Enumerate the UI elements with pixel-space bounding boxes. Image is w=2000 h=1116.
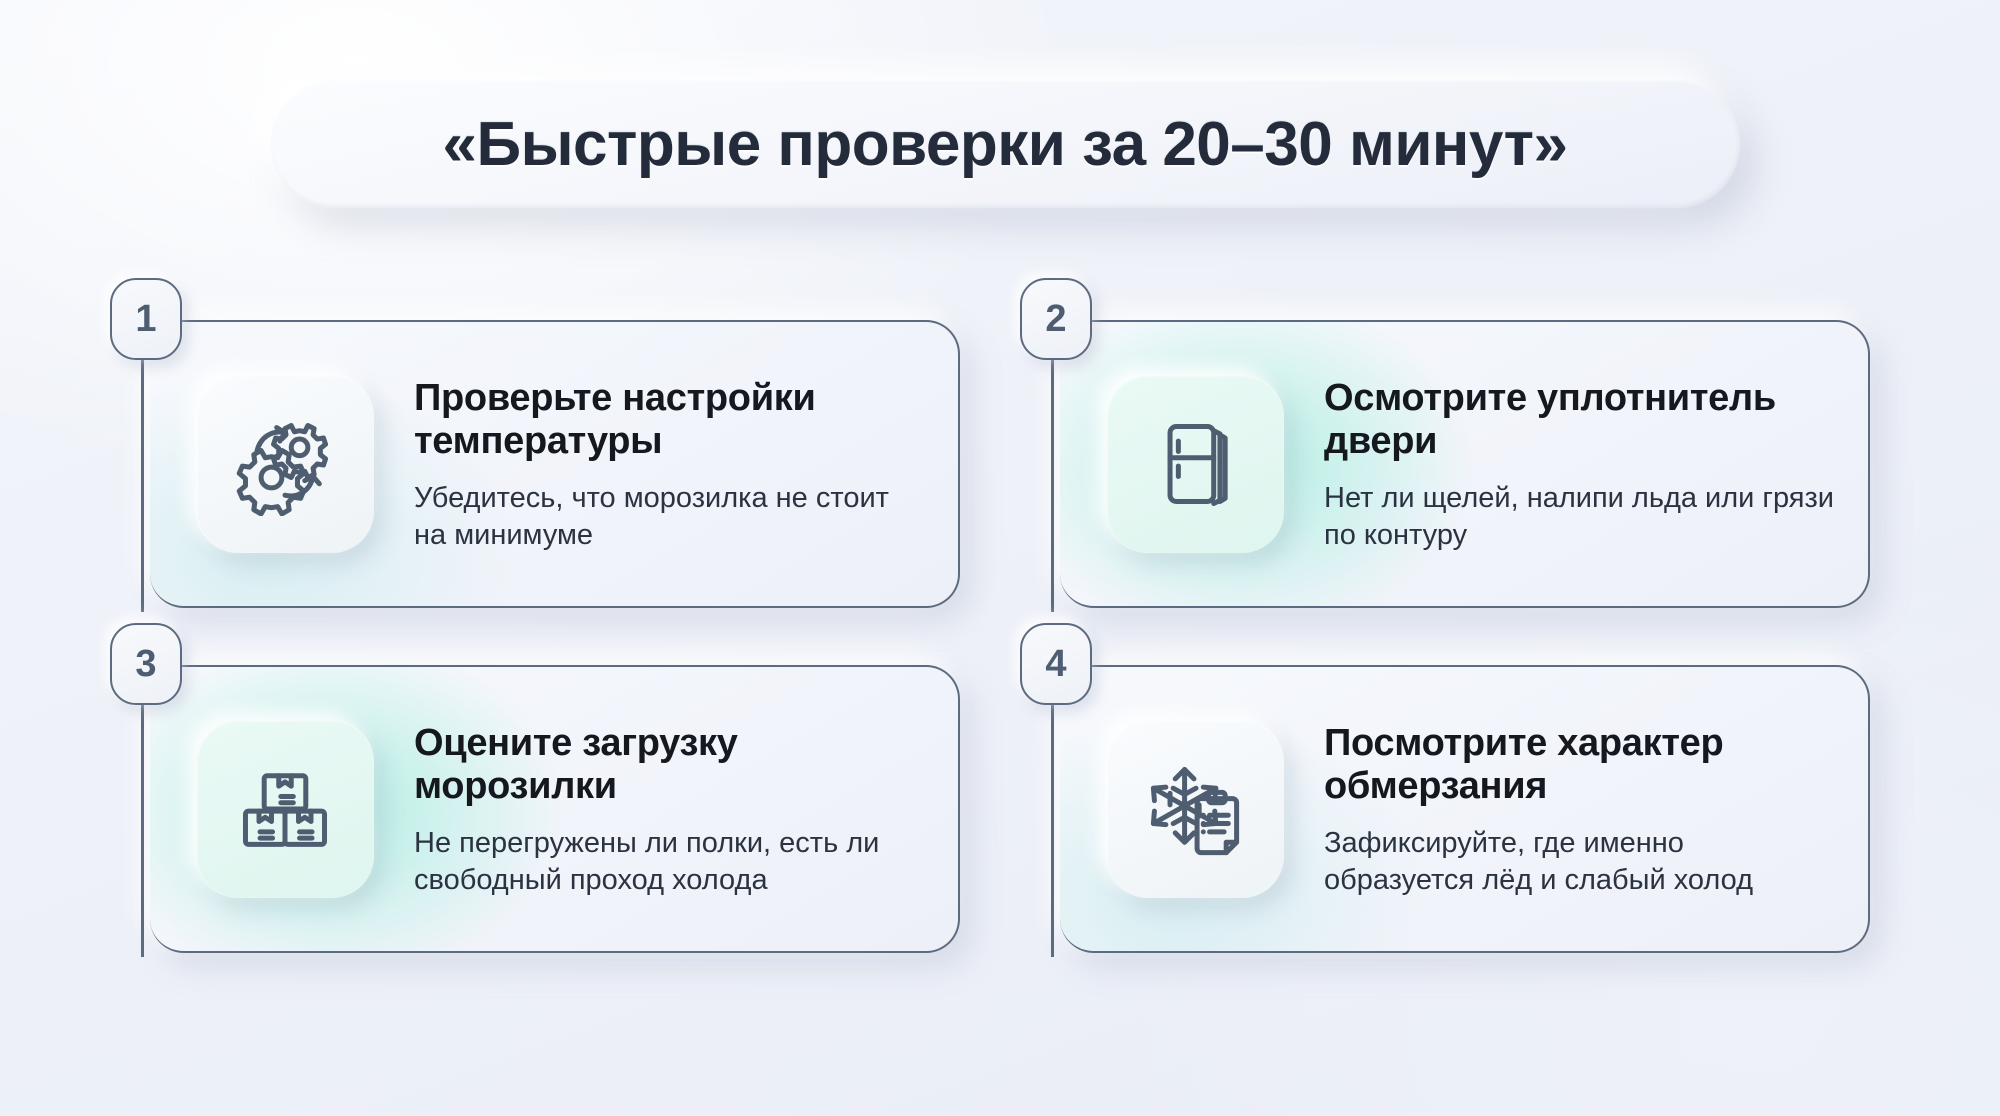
step-card-1-title: Проверьте настройки температуры [414, 377, 924, 464]
infographic-canvas: «Быстрые проверки за 20–30 минут» 1 [0, 0, 2000, 1116]
badge-connector-2 [1051, 350, 1054, 612]
step-number-badge-2: 2 [1020, 278, 1092, 360]
step-card-3[interactable]: Оцените загрузку морозилки Не перегружен… [150, 665, 960, 953]
step-card-4-title: Посмотрите характер обмерзания [1324, 722, 1834, 809]
step-card-2[interactable]: Осмотрите уплотнитель двери Нет ли щелей… [1060, 320, 1870, 608]
step-card-4-text: Посмотрите характер обмерзания Зафиксиру… [1324, 718, 1834, 900]
stacked-boxes-icon [196, 720, 374, 898]
step-number-1: 1 [135, 300, 156, 338]
title-pill: «Быстрые проверки за 20–30 минут» [270, 80, 1740, 208]
step-card-3-title: Оцените загрузку морозилки [414, 722, 924, 809]
step-number-4: 4 [1045, 645, 1066, 683]
page-title: «Быстрые проверки за 20–30 минут» [443, 109, 1568, 180]
step-card-2-text: Осмотрите уплотнитель двери Нет ли щелей… [1324, 373, 1834, 555]
step-card-3-text: Оцените загрузку морозилки Не перегружен… [414, 718, 924, 900]
badge-connector-4 [1051, 695, 1054, 957]
step-card-3-desc: Не перегружены ли полки, есть ли свободн… [414, 825, 924, 900]
step-number-3: 3 [135, 645, 156, 683]
refrigerator-icon [1106, 375, 1284, 553]
badge-connector-1 [141, 350, 144, 612]
step-card-2-title: Осмотрите уплотнитель двери [1324, 377, 1834, 464]
step-card-2-wrapper: 2 Осмотрите уплотнитель двери Нет ли ще [1060, 320, 1870, 610]
step-card-1-text: Проверьте настройки температуры Убедитес… [414, 373, 924, 555]
step-card-2-desc: Нет ли щелей, налипи льда или грязи по к… [1324, 480, 1834, 555]
step-card-4-wrapper: 4 [1060, 665, 1870, 955]
step-number-badge-3: 3 [110, 623, 182, 705]
step-card-4-desc: Зафиксируйте, где именно образуется лёд … [1324, 825, 1834, 900]
step-card-3-wrapper: 3 Оцените [150, 665, 960, 955]
step-card-1-wrapper: 1 Проверьте настройки т [150, 320, 960, 610]
step-number-badge-1: 1 [110, 278, 182, 360]
steps-grid: 1 Проверьте настройки т [150, 320, 1870, 955]
snowflake-clipboard-icon [1106, 720, 1284, 898]
gears-refresh-icon [196, 375, 374, 553]
step-card-4[interactable]: Посмотрите характер обмерзания Зафиксиру… [1060, 665, 1870, 953]
step-card-1[interactable]: Проверьте настройки температуры Убедитес… [150, 320, 960, 608]
step-number-2: 2 [1045, 300, 1066, 338]
step-number-badge-4: 4 [1020, 623, 1092, 705]
badge-connector-3 [141, 695, 144, 957]
step-card-1-desc: Убедитесь, что морозилка не стоит на мин… [414, 480, 924, 555]
